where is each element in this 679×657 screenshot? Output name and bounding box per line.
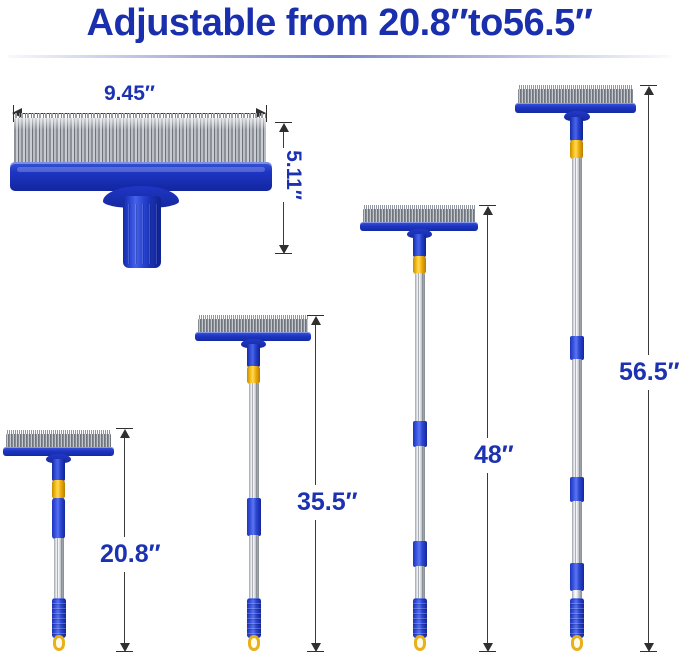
brush-3-extension-bottom xyxy=(479,651,496,652)
telescoping-pole xyxy=(415,566,425,600)
telescoping-pole xyxy=(572,158,582,338)
head-height-extension-bottom xyxy=(275,253,292,254)
handle-grip-ribs xyxy=(570,598,584,638)
handle-grip xyxy=(413,598,427,638)
pole-highlight-line xyxy=(252,535,253,599)
lock-collar-yellow xyxy=(247,366,260,384)
pole-collar-band xyxy=(247,498,261,536)
pole-highlight-line xyxy=(575,158,576,338)
hanging-loop-icon xyxy=(248,635,260,651)
handle-grip xyxy=(52,598,66,638)
handle-socket-icon xyxy=(52,459,65,481)
handle-grip-ribs xyxy=(247,598,261,638)
brush-1-extension-top xyxy=(116,428,133,429)
brush-4-extension-top xyxy=(640,85,657,86)
lock-collar-yellow xyxy=(570,140,583,159)
title-divider xyxy=(8,55,671,58)
pole-highlight-line xyxy=(61,538,62,600)
lock-collar-yellow xyxy=(413,256,426,274)
telescoping-pole xyxy=(572,501,582,565)
handle-socket-icon xyxy=(413,234,426,257)
brush-4-arrow-up-icon xyxy=(644,86,654,95)
brush-assembly-2 xyxy=(192,315,310,652)
pole-highlight-line xyxy=(579,158,580,338)
pole-highlight-line xyxy=(422,273,423,423)
lock-collar-yellow xyxy=(52,480,65,499)
telescoping-pole xyxy=(415,446,425,543)
telescoping-pole xyxy=(415,273,425,423)
brush-4-length-label: 56.5″ xyxy=(613,355,679,390)
brush-2-arrow-up-icon xyxy=(311,316,321,325)
pole-highlight-line xyxy=(418,566,419,600)
page-title: Adjustable from 20.8″to56.5″ xyxy=(0,0,679,47)
brush-2-extension-top xyxy=(307,315,324,316)
handle-grip xyxy=(247,598,261,638)
handle-socket-icon xyxy=(570,117,583,141)
brush-4-extension-bottom xyxy=(640,651,657,652)
handle-socket-icon xyxy=(123,196,161,268)
brush-assembly-3 xyxy=(357,205,477,652)
hanging-loop-icon xyxy=(414,635,426,651)
telescoping-pole xyxy=(572,359,582,479)
hanging-loop-icon xyxy=(571,635,583,651)
head-height-arrow-up-icon xyxy=(279,123,289,132)
telescoping-pole xyxy=(54,538,64,600)
pole-collar-band xyxy=(570,477,584,502)
handle-socket-icon xyxy=(247,344,260,367)
pole-collar-band xyxy=(413,421,427,447)
brush-head-detail xyxy=(10,118,272,250)
brush-1-length-label: 20.8″ xyxy=(94,537,167,572)
pole-highlight-line xyxy=(422,566,423,600)
brush-3-arrow-up-icon xyxy=(483,206,493,215)
infographic-canvas: Adjustable from 20.8″to56.5″ 9.45″ 5.11″ xyxy=(0,0,679,657)
brush-bristles-icon xyxy=(6,434,111,448)
brush-2-length-label: 35.5″ xyxy=(291,485,364,520)
telescoping-pole xyxy=(249,383,259,500)
pole-highlight-line xyxy=(575,359,576,479)
pole-highlight-line xyxy=(579,501,580,565)
pole-highlight-line xyxy=(575,501,576,565)
brush-bristles-icon xyxy=(363,209,475,223)
brush-bristles-icon xyxy=(14,118,266,164)
telescoping-pole xyxy=(249,535,259,599)
head-width-label: 9.45″ xyxy=(104,82,155,106)
brush-1-extension-bottom xyxy=(116,651,133,652)
pole-highlight-line xyxy=(57,538,58,600)
pole-highlight-line xyxy=(418,446,419,543)
brush-1-arrow-up-icon xyxy=(120,429,130,438)
handle-grip xyxy=(570,598,584,638)
brush-3-dimension-line xyxy=(487,213,488,646)
handle-grip-ribs xyxy=(413,598,427,638)
socket-ribs xyxy=(123,204,161,264)
pole-highlight-line xyxy=(256,535,257,599)
pole-collar-band xyxy=(570,563,584,591)
brush-bristles-icon xyxy=(518,89,633,104)
pole-collar-band xyxy=(570,336,584,360)
brush-2-extension-bottom xyxy=(307,651,324,652)
handle-grip-ribs xyxy=(52,598,66,638)
pole-section-blue xyxy=(52,498,65,539)
brush-bristles-icon xyxy=(198,319,308,333)
brush-3-extension-top xyxy=(479,205,496,206)
pole-highlight-line xyxy=(256,383,257,500)
hanging-loop-icon xyxy=(53,635,65,651)
pole-highlight-line xyxy=(252,383,253,500)
pole-highlight-line xyxy=(422,446,423,543)
head-height-extension-top xyxy=(275,122,292,123)
pole-highlight-line xyxy=(418,273,419,423)
head-height-label: 5.11″ xyxy=(281,148,305,202)
pole-collar-band xyxy=(413,541,427,567)
pole-highlight-line xyxy=(579,359,580,479)
